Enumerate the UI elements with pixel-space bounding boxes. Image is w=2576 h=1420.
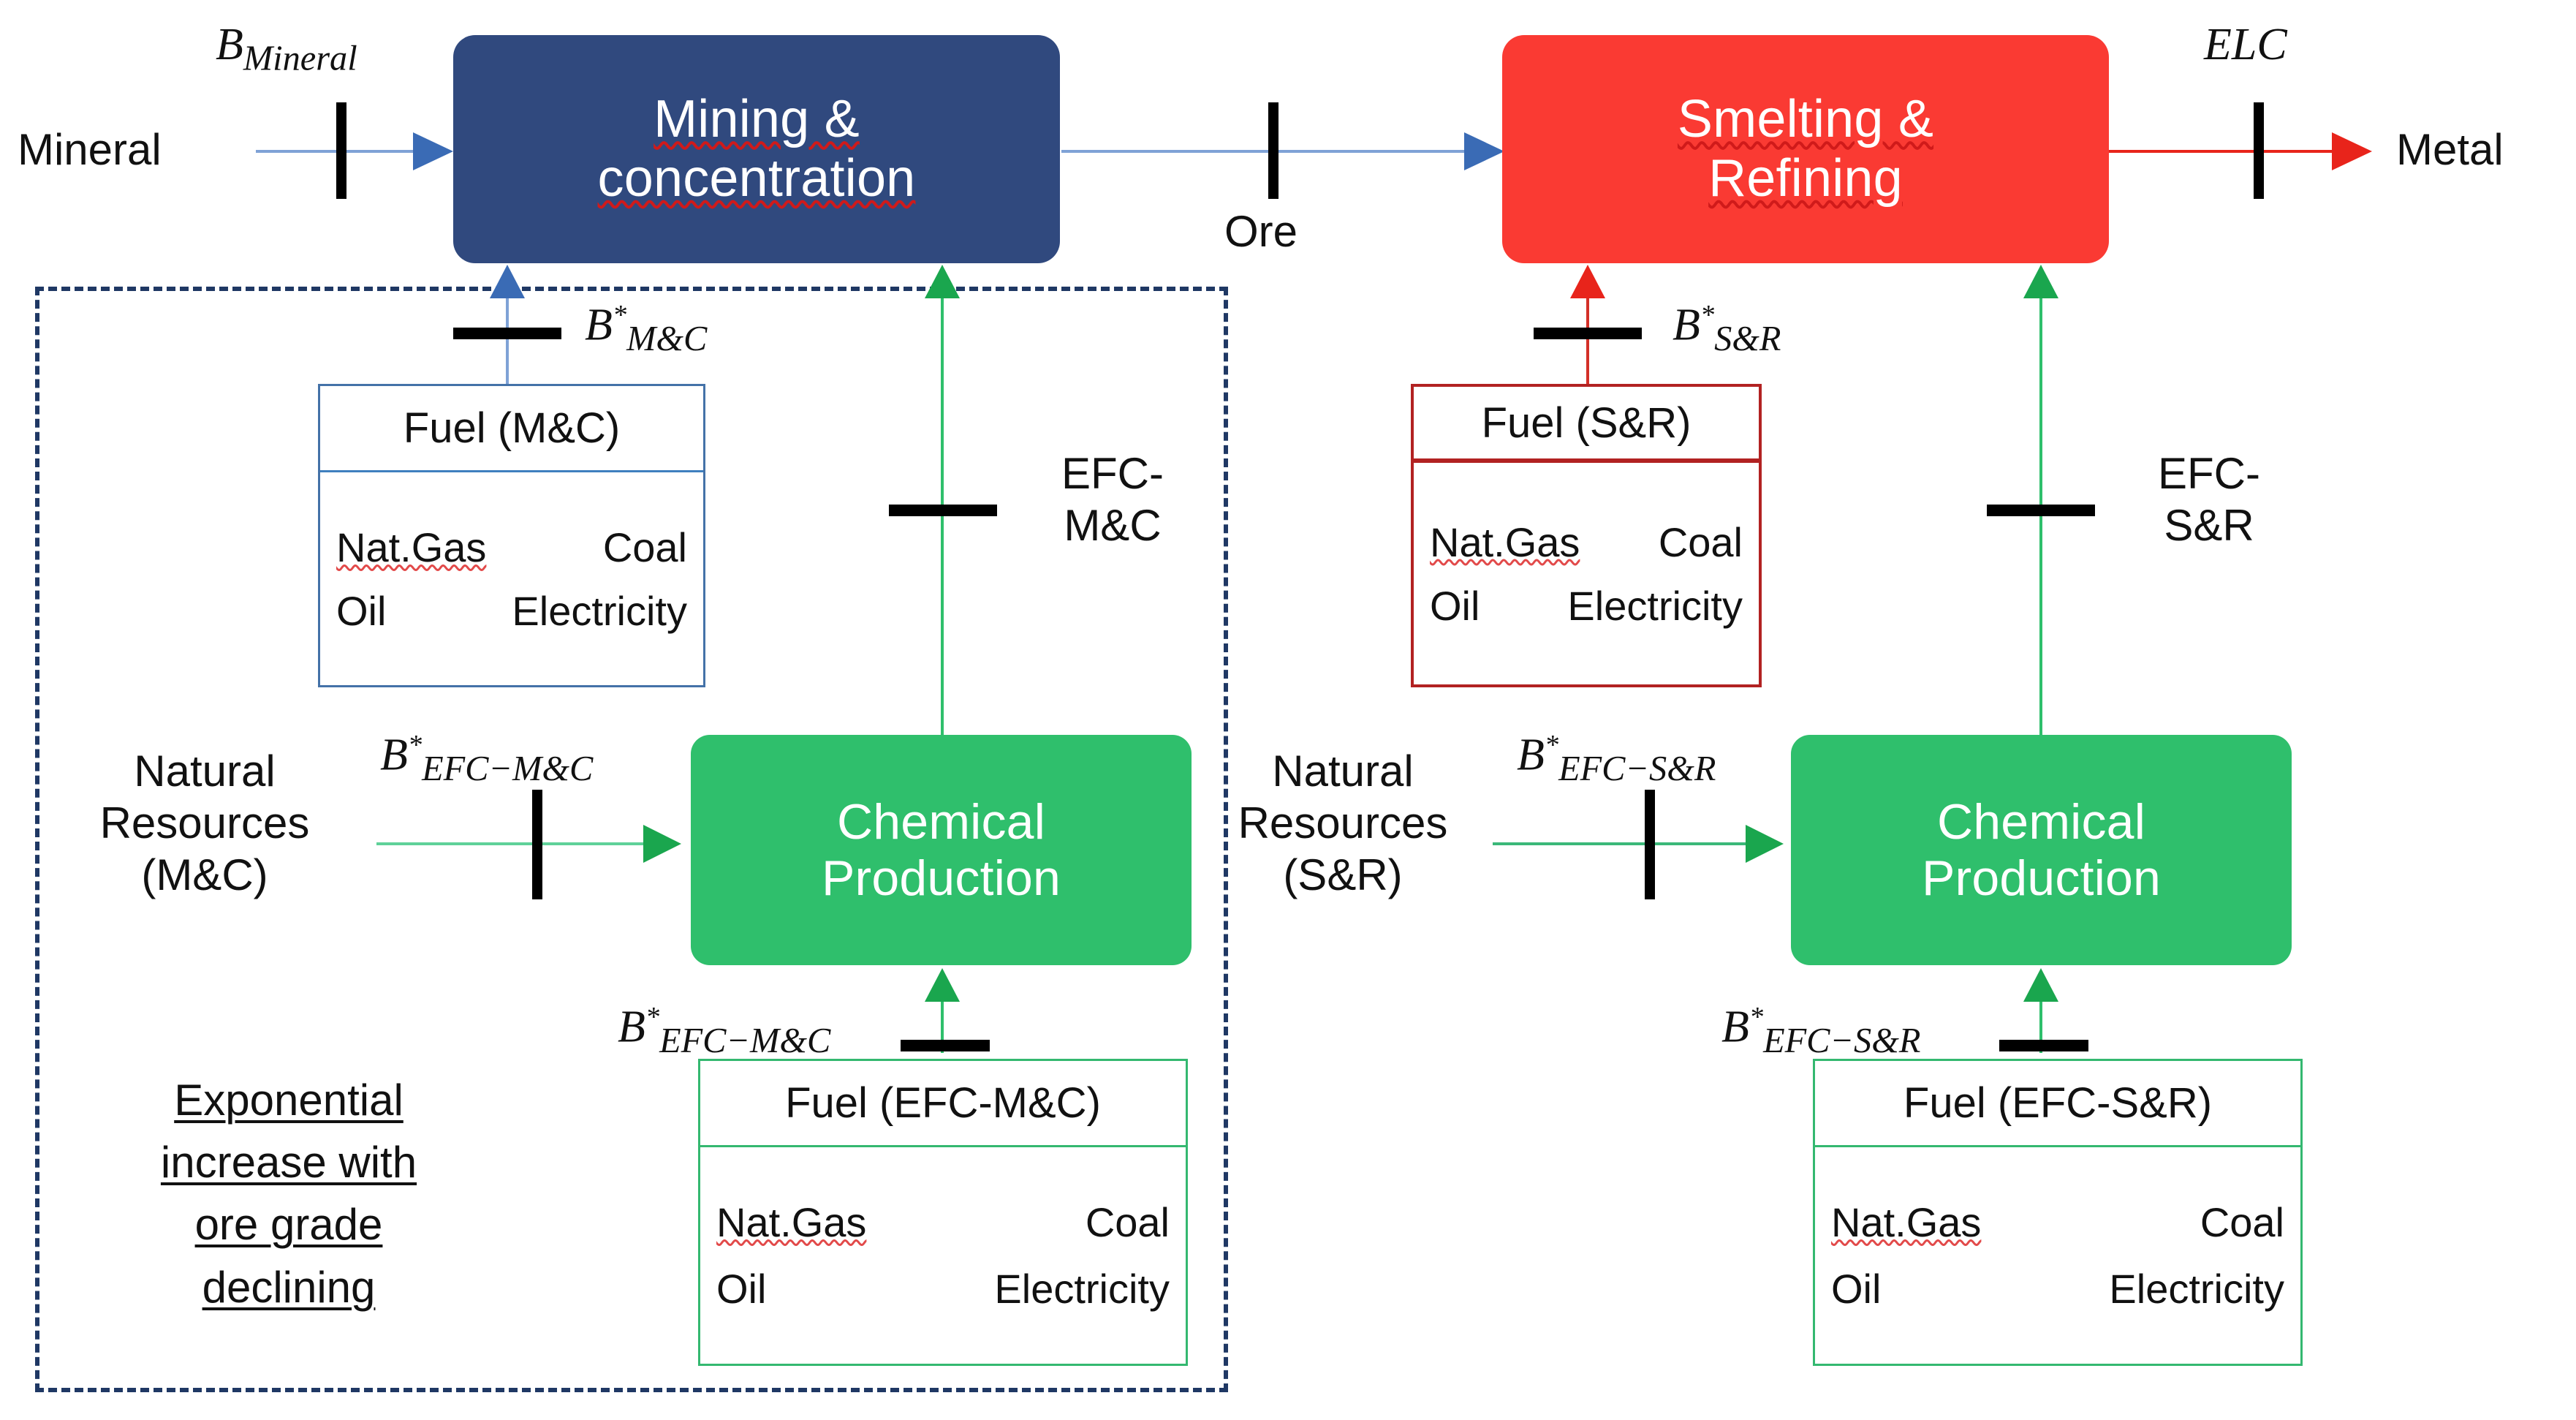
label-b-efc-sr-in: B*EFC−S&R: [1517, 731, 1716, 787]
fuel-box-efc-sr-row2: Oil Electricity: [1815, 1265, 2300, 1313]
note-line2: increase with: [161, 1138, 417, 1187]
fuel-box-efc-sr-header: Fuel (EFC-S&R): [1815, 1061, 2300, 1147]
arrowhead-ore: [1464, 132, 1504, 170]
elc-base: ELC: [2204, 20, 2287, 69]
b-efc-sr-fuel-sup: *: [1749, 1002, 1763, 1032]
b-mc-base: B: [585, 301, 613, 350]
label-natural-resources-sr: Natural Resources (S&R): [1222, 746, 1463, 901]
fuel-box-mc-body: Nat.Gas Coal Oil Electricity: [320, 472, 703, 686]
label-b-mineral: BMineral: [216, 22, 357, 77]
node-chem-mc-line1: Chemical: [837, 794, 1045, 850]
label-metal: Metal: [2396, 124, 2504, 176]
node-mining-label: Mining & concentration: [598, 90, 916, 208]
b-efc-sr-fuel-sub: EFC−S&R: [1763, 1021, 1920, 1060]
fuel-efc-mc-natgas: Nat.Gas: [716, 1198, 866, 1246]
fuel-mc-natgas: Nat.Gas: [336, 524, 486, 571]
fuel-box-sr[interactable]: Fuel (S&R) Nat.Gas Coal Oil Electricity: [1411, 384, 1762, 687]
node-chem-sr-line2: Production: [1922, 850, 2161, 906]
fuel-efc-sr-coal: Coal: [2200, 1198, 2284, 1246]
node-smelting-line2: Refining: [1708, 149, 1903, 208]
fuel-box-sr-body: Nat.Gas Coal Oil Electricity: [1414, 463, 1759, 684]
fuel-box-sr-header: Fuel (S&R): [1414, 387, 1759, 463]
fuel-box-efc-mc-body: Nat.Gas Coal Oil Electricity: [700, 1147, 1186, 1364]
fuel-sr-coal: Coal: [1659, 518, 1743, 566]
node-chem-sr-label: Chemical Production: [1922, 794, 2161, 905]
fuel-efc-mc-oil: Oil: [716, 1265, 766, 1313]
tick-b-efc-mc-fuel: [901, 1040, 990, 1051]
fuel-sr-natgas: Nat.Gas: [1430, 518, 1580, 566]
fuel-box-efc-sr-body: Nat.Gas Coal Oil Electricity: [1815, 1147, 2300, 1364]
fuel-mc-electricity: Electricity: [512, 587, 687, 635]
b-mc-sub: M&C: [626, 320, 707, 358]
tick-efc-mc: [889, 505, 997, 516]
label-b-efc-sr-fuel: B*EFC−S&R: [1721, 1003, 1920, 1059]
fuel-box-sr-row1: Nat.Gas Coal: [1414, 518, 1759, 566]
label-natural-resources-mc: Natural Resources (M&C): [84, 746, 325, 901]
fuel-box-efc-sr-row1: Nat.Gas Coal: [1815, 1198, 2300, 1246]
arrowhead-efc-mc: [925, 265, 960, 298]
tick-efc-sr: [1987, 505, 2095, 516]
fuel-box-efc-sr[interactable]: Fuel (EFC-S&R) Nat.Gas Coal Oil Electric…: [1813, 1059, 2303, 1366]
arrowhead-fuel-efc-sr: [2023, 968, 2058, 1002]
label-elc: ELC: [2204, 22, 2287, 67]
b-efc-mc-fuel-base: B: [618, 1002, 645, 1052]
b-mineral-base: B: [216, 20, 243, 69]
arrowhead-metal: [2332, 132, 2372, 170]
arrowhead-mineral: [413, 132, 453, 170]
note-line3: ore grade: [195, 1200, 383, 1249]
b-efc-mc-in-sup: *: [408, 730, 422, 760]
node-chem-mc-line2: Production: [822, 850, 1061, 906]
node-smelting-and-refining[interactable]: Smelting & Refining: [1502, 35, 2109, 263]
b-efc-mc-fuel-sub: EFC−M&C: [659, 1021, 830, 1060]
fuel-sr-oil: Oil: [1430, 582, 1480, 630]
fuel-box-efc-mc-header: Fuel (EFC-M&C): [700, 1061, 1186, 1147]
tick-b-efc-mc-in: [532, 790, 542, 899]
tick-elc: [2254, 102, 2264, 199]
b-sr-sup: *: [1700, 300, 1714, 331]
diagram-canvas: Mineral BMineral Mining & concentration …: [0, 0, 2576, 1420]
fuel-box-sr-row2: Oil Electricity: [1414, 582, 1759, 630]
b-efc-mc-in-sub: EFC−M&C: [422, 749, 593, 788]
note-exponential-increase: Exponential increase with ore grade decl…: [110, 1069, 468, 1318]
efc-sr-text: EFC- S&R: [2158, 449, 2260, 550]
label-mineral: Mineral: [18, 124, 162, 176]
b-efc-sr-in-sub: EFC−S&R: [1558, 749, 1716, 788]
b-mc-sup: *: [613, 300, 626, 331]
label-efc-mc: EFC- M&C: [1018, 448, 1208, 552]
flow-natres-sr: [1493, 842, 1749, 845]
label-b-efc-mc-in: B*EFC−M&C: [380, 731, 593, 787]
label-b-sr: B*S&R: [1672, 301, 1781, 357]
arrowhead-fuel-mc: [490, 265, 525, 298]
node-chem-sr-line1: Chemical: [1937, 794, 2145, 850]
b-sr-sub: S&R: [1714, 320, 1781, 358]
tick-b-mc: [453, 328, 561, 339]
node-chemical-production-mc[interactable]: Chemical Production: [691, 735, 1192, 965]
node-mining-line2: concentration: [598, 149, 916, 208]
fuel-box-mc-row1: Nat.Gas Coal: [320, 524, 703, 571]
fuel-box-mc[interactable]: Fuel (M&C) Nat.Gas Coal Oil Electricity: [318, 384, 705, 687]
fuel-box-efc-mc-row2: Oil Electricity: [700, 1265, 1186, 1313]
fuel-efc-sr-natgas: Nat.Gas: [1831, 1198, 1981, 1246]
fuel-efc-mc-electricity: Electricity: [994, 1265, 1170, 1313]
b-efc-mc-fuel-sup: *: [645, 1002, 659, 1032]
fuel-efc-sr-oil: Oil: [1831, 1265, 1881, 1313]
fuel-mc-oil: Oil: [336, 587, 386, 635]
fuel-efc-sr-electricity: Electricity: [2109, 1265, 2284, 1313]
tick-b-mineral: [336, 102, 346, 199]
tick-b-sr: [1534, 328, 1642, 339]
node-mining-and-concentration[interactable]: Mining & concentration: [453, 35, 1060, 263]
tick-ore: [1268, 102, 1278, 199]
efc-mc-text: EFC- M&C: [1061, 449, 1164, 550]
node-smelting-line1: Smelting &: [1678, 90, 1933, 148]
b-efc-sr-fuel-base: B: [1721, 1002, 1749, 1052]
flow-ore: [1061, 150, 1499, 153]
note-line1: Exponential: [174, 1076, 404, 1125]
fuel-efc-mc-coal: Coal: [1086, 1198, 1170, 1246]
note-line4: declining: [202, 1263, 376, 1312]
fuel-mc-coal: Coal: [603, 524, 687, 571]
b-sr-base: B: [1672, 301, 1700, 350]
node-mining-line1: Mining &: [654, 90, 860, 148]
fuel-box-mc-row2: Oil Electricity: [320, 587, 703, 635]
fuel-box-mc-header: Fuel (M&C): [320, 386, 703, 472]
b-efc-sr-in-base: B: [1517, 730, 1545, 780]
arrowhead-fuel-efc-mc: [925, 968, 960, 1002]
label-b-mc: B*M&C: [585, 301, 707, 357]
fuel-box-efc-mc[interactable]: Fuel (EFC-M&C) Nat.Gas Coal Oil Electric…: [698, 1059, 1188, 1366]
label-ore: Ore: [1224, 206, 1298, 258]
node-smelting-label: Smelting & Refining: [1678, 90, 1933, 208]
arrowhead-natres-mc: [643, 825, 681, 863]
b-efc-mc-in-base: B: [380, 730, 408, 780]
tick-b-efc-sr-fuel: [1999, 1040, 2088, 1051]
b-mineral-sub: Mineral: [243, 39, 357, 78]
b-efc-sr-in-sup: *: [1545, 730, 1558, 760]
label-efc-sr: EFC- S&R: [2114, 448, 2304, 552]
arrowhead-efc-sr: [2023, 265, 2058, 298]
node-chemical-production-sr[interactable]: Chemical Production: [1791, 735, 2292, 965]
arrowhead-natres-sr: [1746, 825, 1784, 863]
tick-b-efc-sr-in: [1645, 790, 1655, 899]
node-chem-mc-label: Chemical Production: [822, 794, 1061, 905]
fuel-box-efc-mc-row1: Nat.Gas Coal: [700, 1198, 1186, 1246]
flow-metal: [2109, 150, 2350, 153]
label-b-efc-mc-fuel: B*EFC−M&C: [618, 1003, 830, 1059]
arrowhead-fuel-sr: [1570, 265, 1605, 298]
flow-natres-mc: [376, 842, 647, 845]
fuel-sr-electricity: Electricity: [1567, 582, 1743, 630]
